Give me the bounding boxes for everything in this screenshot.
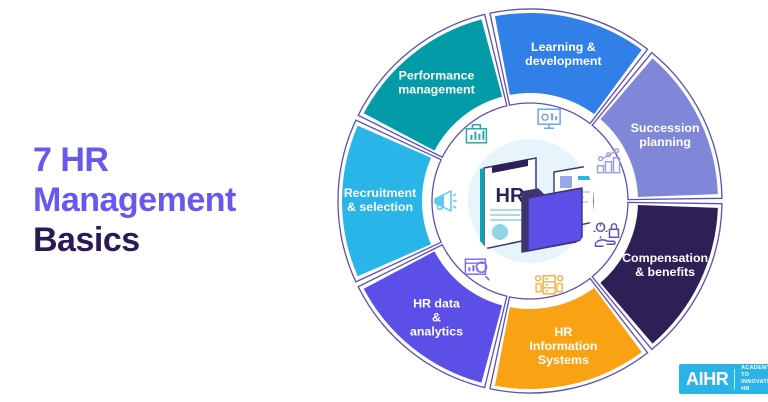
logo-tagline-line-1: ACADEMY TO [741,365,768,379]
megaphone-icon [435,191,457,211]
title-line-1: 7 HR [33,140,333,180]
aihr-logo[interactable]: AIHR ACADEMY TO INNOVATE HR [679,364,768,394]
folder-icon [522,188,582,252]
presentation-screen-icon [538,109,560,128]
infographic-canvas: 7 HR Management Basics [0,0,768,402]
career-steps-icon [598,149,620,173]
logo-tagline: ACADEMY TO INNOVATE HR [741,364,768,394]
briefcase-chart-icon [466,125,486,143]
svg-text:HR: HR [496,185,525,207]
logo-divider [734,369,735,389]
logo-tagline-line-2: INNOVATE HR [741,379,768,393]
hand-gear-lock-icon [594,223,619,246]
logo-wordmark: AIHR [686,364,728,394]
hr-basics-wheel: HR Recruitment& selectionPerformancemana… [332,6,728,396]
title-line-3: Basics [33,220,333,260]
server-people-icon [536,276,563,294]
page-title: 7 HR Management Basics [33,140,333,260]
title-line-2: Management [33,180,333,220]
